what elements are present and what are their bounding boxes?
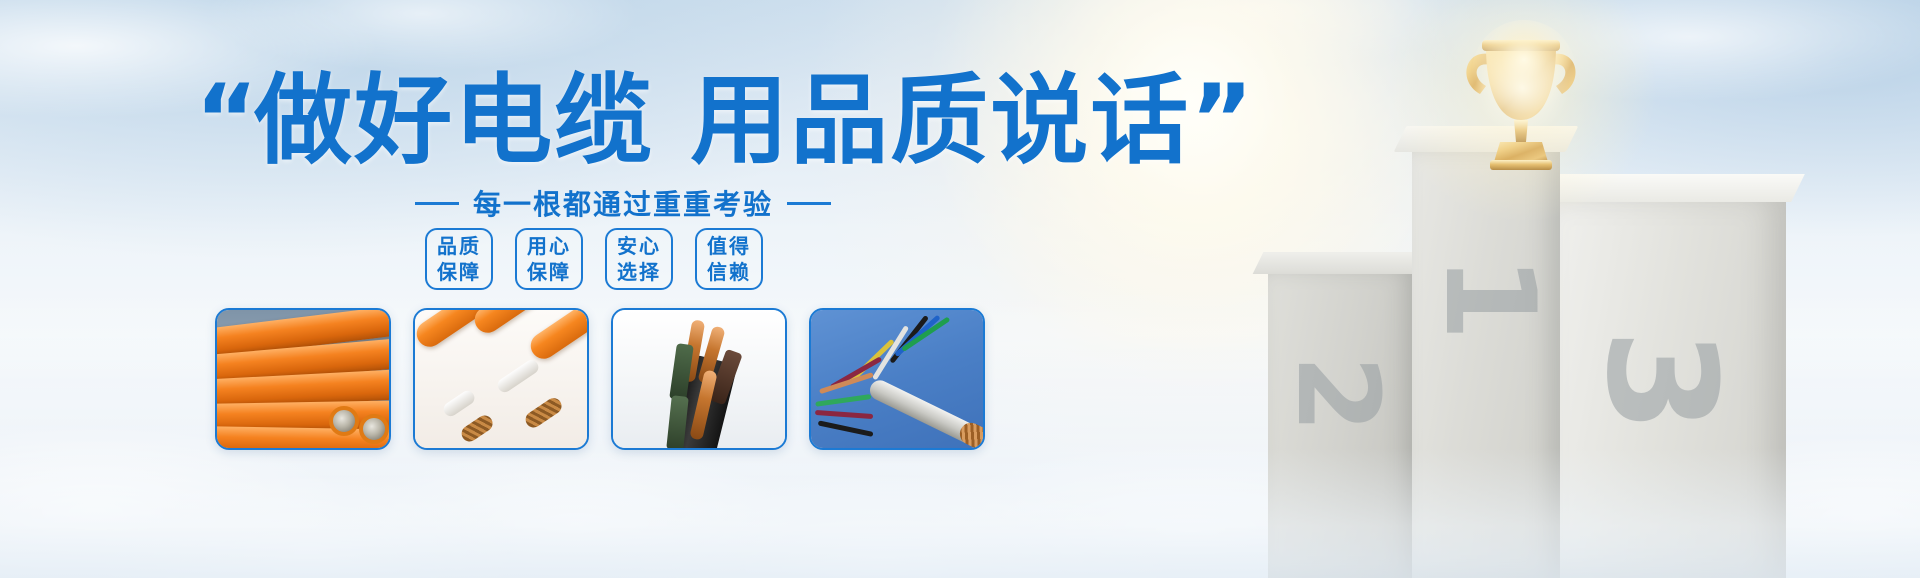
subtitle: 每一根都通过重重考验	[415, 183, 831, 223]
badge-dedicated-guarantee[interactable]: 用心 保障	[515, 228, 583, 290]
badge-quality-guarantee[interactable]: 品质 保障	[425, 228, 493, 290]
gold-trophy-icon	[1446, 20, 1596, 180]
badge-confident-choice[interactable]: 安心 选择	[605, 228, 673, 290]
feature-badge-list: 品质 保障 用心 保障 安心 选择 值得 信赖	[425, 228, 763, 290]
podium-block-2: 2	[1268, 268, 1416, 578]
headline-text: 做好电缆 用品质说话	[254, 64, 1190, 178]
subtitle-rule-right	[787, 202, 831, 205]
podium-block-2-top	[1253, 252, 1432, 274]
hero-banner: 2 3 1	[0, 0, 1920, 578]
badge-line-1: 值得	[707, 233, 751, 259]
badge-line-2: 保障	[527, 259, 571, 285]
subtitle-text: 每一根都通过重重考验	[473, 183, 773, 223]
badge-line-2: 信赖	[707, 259, 751, 285]
podium-number-1: 1	[1427, 255, 1551, 341]
product-card-orange-cable-coils[interactable]	[215, 308, 391, 450]
product-photo-armoured-copper-cable	[613, 310, 785, 448]
product-card-stripped-orange-cable[interactable]	[413, 308, 589, 450]
badge-line-1: 安心	[617, 233, 661, 259]
product-photo-shielded-multicore-wires	[811, 310, 983, 448]
close-quote: ”	[1190, 64, 1249, 176]
page-title: “做好电缆 用品质说话”	[195, 70, 1249, 174]
product-card-list	[215, 308, 985, 450]
badge-line-2: 保障	[437, 259, 481, 285]
product-card-armoured-copper-cable[interactable]	[611, 308, 787, 450]
subtitle-rule-left	[415, 202, 459, 205]
badge-line-1: 品质	[437, 233, 481, 259]
podium-block-1: 1	[1412, 146, 1560, 578]
banner-copy: “做好电缆 用品质说话” 每一根都通过重重考验 品质 保障 用心 保障 安心 选…	[0, 0, 1060, 578]
podium-number-2: 2	[1281, 355, 1393, 433]
product-photo-orange-cable-coils	[217, 310, 389, 448]
podium-block-3: 3	[1556, 196, 1786, 578]
product-card-shielded-multicore-wires[interactable]	[809, 308, 985, 450]
badge-line-1: 用心	[527, 233, 571, 259]
badge-line-2: 选择	[617, 259, 661, 285]
podium-illustration: 2 3 1	[1160, 0, 1920, 578]
podium-number-3: 3	[1585, 329, 1735, 433]
product-photo-stripped-orange-cable	[415, 310, 587, 448]
badge-trustworthy[interactable]: 值得 信赖	[695, 228, 763, 290]
podium-block-1-face	[1412, 146, 1560, 578]
open-quote: “	[195, 64, 254, 176]
